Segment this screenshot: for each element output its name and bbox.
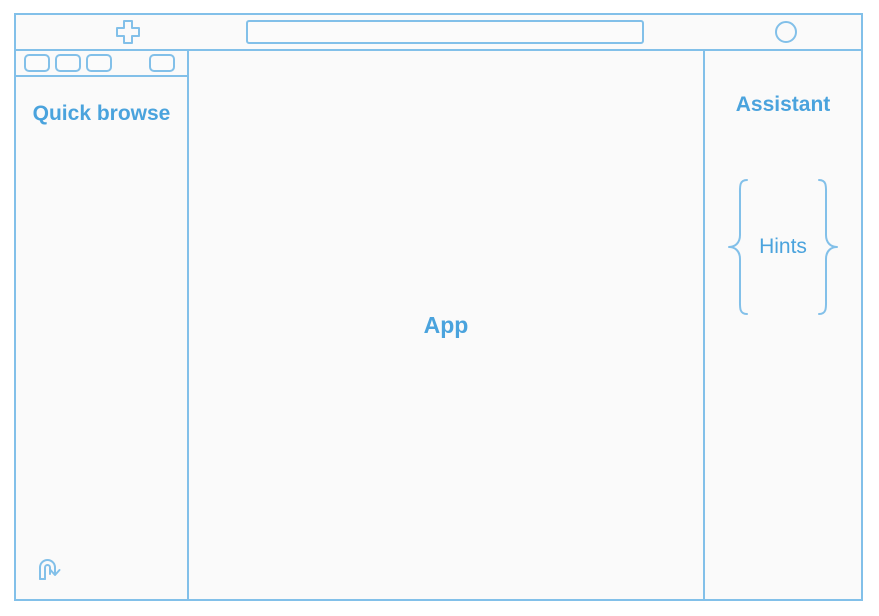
app-content-area[interactable]: App — [189, 51, 703, 599]
circle-avatar-icon[interactable] — [775, 21, 797, 43]
sidebar-footer — [16, 539, 187, 599]
address-input[interactable] — [246, 20, 644, 44]
wireframe-root: Quick browse — [0, 0, 879, 616]
overflow-button[interactable] — [149, 54, 175, 72]
account-region — [711, 15, 861, 49]
hints-block: Hints — [725, 177, 841, 317]
sidebar-toolbar — [16, 51, 187, 77]
right-brace-icon — [815, 177, 841, 317]
assistant-title: Assistant — [736, 93, 831, 117]
sidebar-title: Quick browse — [16, 77, 187, 127]
u-turn-arrow-icon[interactable] — [34, 554, 64, 584]
reload-button[interactable] — [86, 54, 112, 72]
left-brace-icon — [725, 177, 751, 317]
browser-top-bar — [16, 15, 861, 51]
address-bar-region — [240, 15, 711, 49]
quick-browse-sidebar: Quick browse — [16, 51, 189, 599]
back-button[interactable] — [24, 54, 50, 72]
sidebar-item-list[interactable] — [16, 127, 187, 539]
forward-button[interactable] — [55, 54, 81, 72]
window-body: Quick browse — [16, 51, 861, 599]
app-label: App — [424, 312, 469, 339]
plus-icon[interactable] — [113, 17, 143, 47]
sidebar-content: Quick browse — [16, 77, 187, 599]
tab-strip — [16, 15, 240, 49]
browser-window-frame: Quick browse — [14, 13, 863, 601]
assistant-panel: Assistant Hints — [703, 51, 861, 599]
hints-label: Hints — [751, 235, 815, 259]
